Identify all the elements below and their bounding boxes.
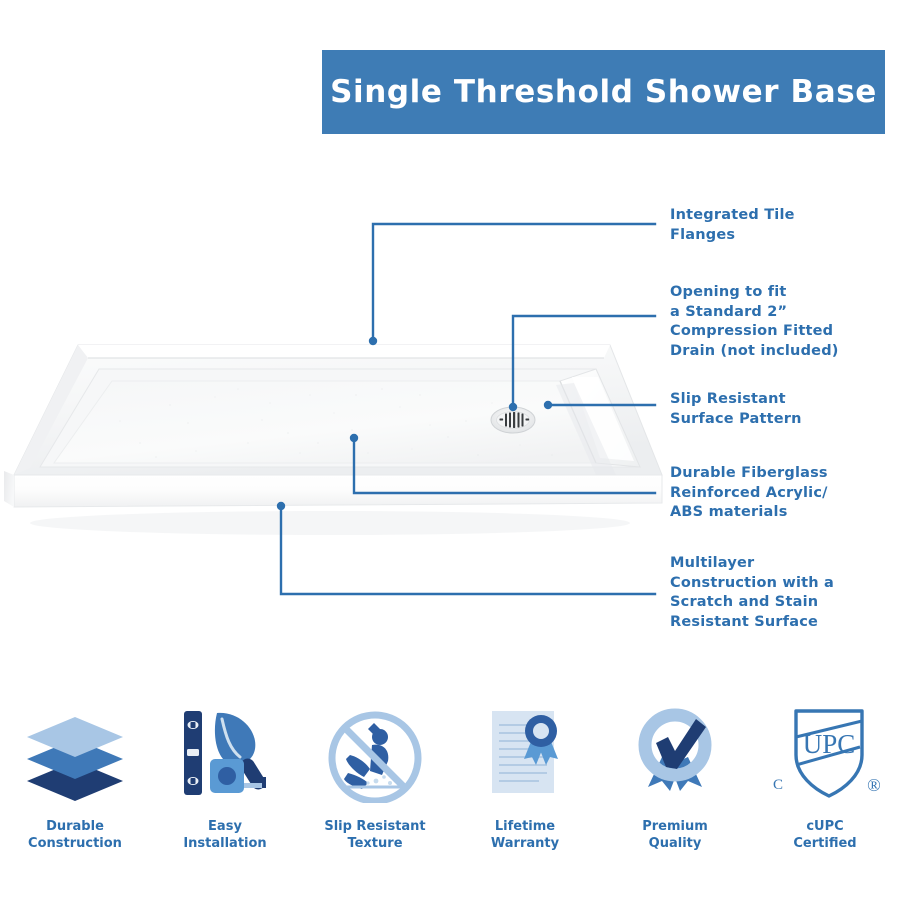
stacked-layers-icon	[15, 695, 135, 810]
feature-caption: Lifetime Warranty	[491, 818, 559, 852]
leader-path-durable-materials	[354, 438, 655, 493]
leader-path-multilayer-construction	[281, 506, 655, 594]
no-slip-prohibition-icon	[315, 695, 435, 810]
callout-durable-materials: Durable Fiberglass Reinforced Acrylic/ A…	[670, 464, 828, 523]
leader-dot-multilayer-construction	[277, 502, 285, 510]
callout-multilayer-construction: Multilayer Construction with a Scratch a…	[670, 554, 834, 632]
leader-dot-drain-opening	[509, 403, 517, 411]
feature-lifetime-warranty: Lifetime Warranty	[450, 695, 600, 870]
leader-dot-slip-resistant-surface-pattern	[544, 401, 552, 409]
feature-premium-quality: Premium Quality	[600, 695, 750, 870]
feature-caption: Easy Installation	[183, 818, 266, 852]
infographic-canvas: Single Threshold Shower Base	[0, 0, 900, 900]
feature-caption: cUPC Certified	[793, 818, 856, 852]
feature-durable-construction: Durable Construction	[0, 695, 150, 870]
callout-slip-resistant-surface-pattern: Slip Resistant Surface Pattern	[670, 390, 802, 429]
callout-drain-opening: Opening to fit a Standard 2” Compression…	[670, 283, 839, 361]
feature-slip-resistant-texture: Slip Resistant Texture	[300, 695, 450, 870]
feature-cupc-certified: UPC C ® cUPC Certified	[750, 695, 900, 870]
feature-caption: Slip Resistant Texture	[324, 818, 425, 852]
shield-registered-mark: ®	[867, 775, 880, 795]
shield-left-mark: C	[773, 777, 783, 793]
checkmark-rosette-icon	[615, 695, 735, 810]
shield-text: UPC	[803, 729, 856, 759]
cupc-shield-icon: UPC C ®	[765, 695, 885, 810]
callout-integrated-tile-flanges: Integrated Tile Flanges	[670, 206, 795, 245]
level-trowel-tape-icon	[165, 695, 285, 810]
feature-strip: Durable Construction	[0, 695, 900, 870]
leader-dot-integrated-tile-flanges	[369, 337, 377, 345]
feature-caption: Durable Construction	[28, 818, 122, 852]
feature-easy-installation: Easy Installation	[150, 695, 300, 870]
leader-path-drain-opening	[513, 316, 655, 407]
feature-caption: Premium Quality	[642, 818, 708, 852]
certificate-ribbon-icon	[465, 695, 585, 810]
leader-dot-durable-materials	[350, 434, 358, 442]
